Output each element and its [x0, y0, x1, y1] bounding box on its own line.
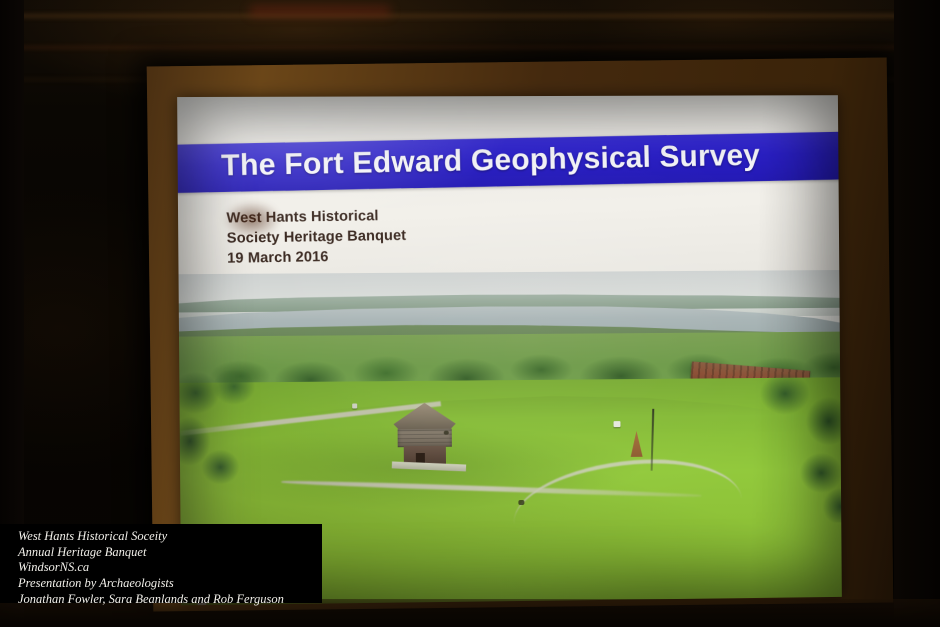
caption-overlay: West Hants Historical Soceity Annual Her…: [0, 524, 322, 603]
dark-object: [518, 500, 524, 505]
white-object: [352, 403, 357, 408]
screenshot-root: The Fort Edward Geophysical Survey West …: [0, 0, 940, 627]
subtitle-line-1: West Hants Historical: [226, 206, 406, 229]
white-object: [614, 421, 621, 427]
caption-line: West Hants Historical Soceity: [0, 524, 322, 545]
ceiling-beam: [0, 46, 940, 49]
caption-line: WindsorNS.ca: [0, 560, 322, 576]
subtitle-line-3: 19 March 2016: [227, 246, 407, 269]
right-trees: [725, 373, 841, 523]
dark-object: [444, 431, 449, 435]
ceiling-beam: [0, 14, 940, 18]
caption-line: Annual Heritage Banquet: [0, 545, 322, 561]
slide-subtitle: West Hants Historical Society Heritage B…: [226, 206, 406, 269]
caption-line: Jonathan Fowler, Sara Beanlands and Rob …: [0, 592, 322, 608]
right-dark-foreground: [894, 0, 940, 627]
room-light-glow: [250, 6, 390, 16]
caption-line: Presentation by Archaeologists: [0, 576, 322, 592]
subtitle-line-2: Society Heritage Banquet: [227, 226, 407, 249]
